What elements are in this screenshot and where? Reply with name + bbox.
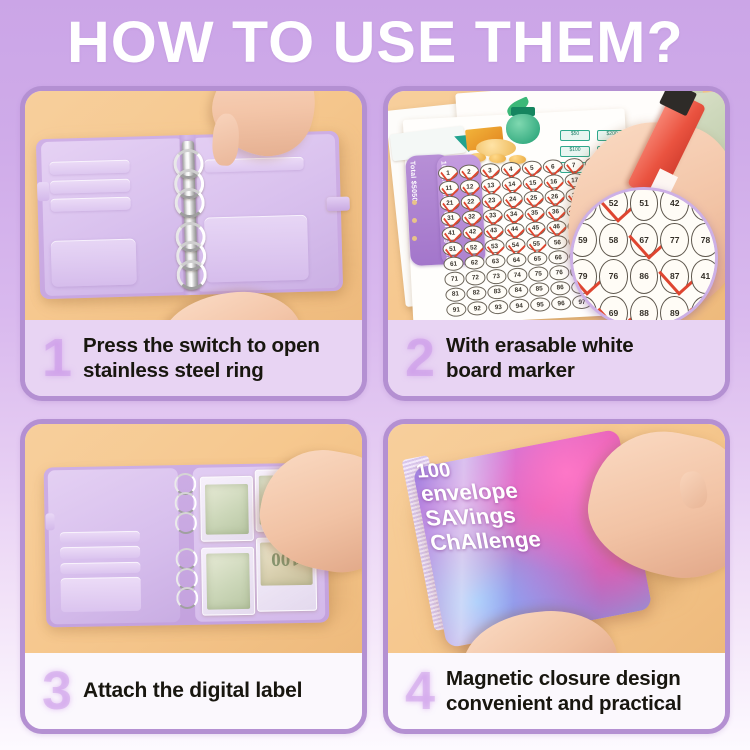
step-4-line-1: Magnetic closure design: [446, 667, 681, 690]
step-card-2[interactable]: 5 $50 $100 $150 $200 $250 Total $5050: [383, 86, 730, 401]
punch-holes: [412, 187, 422, 306]
tracker-number-cell[interactable]: 2: [458, 164, 479, 179]
card-slot: [51, 196, 131, 211]
binder-pocket: [60, 577, 141, 612]
inset-number-cell: 57: [691, 296, 718, 320]
inset-number-cell: 88: [630, 296, 659, 320]
card-slot: [60, 531, 141, 544]
step-4-caption: 4 Magnetic closure design convenient and…: [388, 653, 725, 729]
amount-label: $100: [561, 147, 589, 155]
step-2-line-2: board marker: [446, 359, 575, 382]
tracker-number-cell[interactable]: 45: [525, 221, 546, 236]
step-2-caption: 2 With erasable white board marker: [388, 320, 725, 396]
step-number-4: 4: [396, 664, 444, 718]
step-3-text: Attach the digital label: [83, 678, 302, 704]
step-4-line-2: convenient and practical: [446, 692, 682, 715]
tracker-number-cell[interactable]: 41: [441, 226, 462, 241]
inset-number-cell: 68: [570, 296, 597, 320]
tracker-number-cell[interactable]: 33: [482, 208, 503, 223]
amount-label: $50: [561, 131, 589, 139]
tracker-number-cell[interactable]: 83: [487, 284, 508, 299]
tracker-number-cell[interactable]: 11: [438, 180, 459, 195]
inset-number-cell: 52: [599, 187, 628, 220]
card-slot: [51, 178, 131, 193]
inset-number-cell: 51: [630, 187, 659, 220]
tracker-number-cell[interactable]: 72: [465, 270, 486, 285]
step-1-photo: [25, 91, 362, 320]
tracker-number-cell[interactable]: 51: [442, 241, 463, 256]
cash-envelope: [202, 547, 255, 616]
tracker-number-cell[interactable]: 93: [488, 299, 509, 314]
step-number-3: 3: [33, 664, 81, 718]
tracker-number-cell[interactable]: 94: [509, 298, 530, 313]
inset-number-cell: 76: [599, 259, 628, 294]
inset-number-cell: 89: [660, 296, 689, 320]
tracker-number-cell[interactable]: 65: [527, 251, 548, 266]
tracker-number-cell[interactable]: 92: [467, 300, 488, 315]
step-card-3[interactable]: 5 100: [20, 419, 367, 734]
step-number-1: 1: [33, 331, 81, 385]
binder-pocket: [51, 238, 138, 287]
tracker-number-cell[interactable]: 71: [444, 271, 465, 286]
tracker-number-cell[interactable]: 13: [480, 178, 501, 193]
tracker-number-cell[interactable]: 24: [502, 192, 523, 207]
step-3-photo: 5 100: [25, 424, 362, 653]
tracker-number-cell[interactable]: 75: [528, 266, 549, 281]
tracker-number-cell[interactable]: 63: [485, 254, 506, 269]
step-1-line-1: Press the switch to open: [83, 334, 320, 357]
tracker-number-cell[interactable]: 12: [459, 179, 480, 194]
tracker-number-cell[interactable]: 16: [543, 174, 564, 189]
binder-pocket: [205, 214, 309, 281]
tracker-number-cell[interactable]: 84: [508, 283, 529, 298]
tracker-number-cell[interactable]: 96: [551, 295, 572, 310]
tracker-number-cell[interactable]: 62: [464, 255, 485, 270]
tracker-number-cell[interactable]: 82: [466, 285, 487, 300]
tracker-number-cell[interactable]: 31: [440, 211, 461, 226]
tracker-number-cell[interactable]: 76: [549, 265, 570, 280]
tracker-number-cell[interactable]: 46: [546, 219, 567, 234]
tracker-number-cell[interactable]: 23: [481, 193, 502, 208]
card-slot: [50, 159, 130, 174]
open-binder: [36, 130, 344, 299]
tracker-number-cell[interactable]: 1: [437, 165, 458, 180]
tracker-number-cell[interactable]: 32: [461, 209, 482, 224]
step-number-2: 2: [396, 331, 444, 385]
step-2-line-1: With erasable white: [446, 334, 633, 357]
binder-left-page: [48, 469, 181, 625]
tracker-number-cell[interactable]: 4: [500, 161, 521, 176]
ring-mechanism: [180, 470, 194, 621]
page-header: HOW TO USE THEM?: [0, 0, 750, 86]
inset-number-cell: 59: [570, 223, 597, 258]
inset-number-cell: 69: [599, 296, 628, 320]
amount-box: $50: [560, 130, 590, 141]
thumb: [678, 470, 710, 511]
inset-number-cell: 58: [599, 223, 628, 258]
tracker-number-cell[interactable]: 95: [530, 297, 551, 312]
tracker-number-cell[interactable]: 85: [529, 281, 550, 296]
tracker-number-cell[interactable]: 61: [443, 256, 464, 271]
tracker-number-cell[interactable]: 55: [526, 236, 547, 251]
binder-tab: [38, 182, 50, 201]
zoom-inset-circle: 4352514250595867777879768687416869888957: [570, 187, 718, 320]
tracker-number-cell[interactable]: 5: [521, 160, 542, 175]
step-card-4[interactable]: 100 envelope SAVings ChAllenge 4 Magneti…: [383, 419, 730, 734]
tracker-number-cell[interactable]: 43: [483, 223, 504, 238]
tracker-number-cell[interactable]: 15: [522, 175, 543, 190]
step-4-text: Magnetic closure design convenient and p…: [446, 666, 682, 716]
step-3-line-1: Attach the digital label: [83, 679, 302, 702]
tracker-number-cell[interactable]: 21: [439, 195, 460, 210]
page-title: HOW TO USE THEM?: [67, 14, 684, 72]
binder-tab: [46, 514, 55, 531]
tracker-number-cell[interactable]: 81: [445, 286, 466, 301]
card-slot: [60, 562, 141, 575]
step-card-1[interactable]: 1 Press the switch to open stainless ste…: [20, 86, 367, 401]
step-2-photo: 5 $50 $100 $150 $200 $250 Total $5050: [388, 91, 725, 320]
money-bag-icon: [506, 114, 540, 144]
steps-grid: 1 Press the switch to open stainless ste…: [0, 86, 750, 750]
step-4-photo: 100 envelope SAVings ChAllenge: [388, 424, 725, 653]
inset-number-cell: 43: [570, 187, 597, 220]
tracker-number-cell[interactable]: 25: [523, 190, 544, 205]
elastic-strap: [327, 196, 350, 210]
tracker-number-cell[interactable]: 42: [462, 224, 483, 239]
step-1-text: Press the switch to open stainless steel…: [83, 333, 320, 383]
binder-left-page: [41, 138, 188, 296]
tracker-number-cell[interactable]: 73: [486, 269, 507, 284]
tracker-number-cell[interactable]: 91: [446, 302, 467, 317]
tracker-number-cell[interactable]: 53: [484, 238, 505, 253]
tracker-number-cell[interactable]: 3: [479, 162, 500, 177]
tracker-number-cell[interactable]: 34: [503, 207, 524, 222]
dollar-bill: [207, 554, 250, 610]
tracker-number-cell[interactable]: 36: [545, 204, 566, 219]
tracker-number-cell[interactable]: 22: [460, 194, 481, 209]
punch-hole: [412, 200, 417, 205]
inset-number-cell: 79: [570, 259, 597, 294]
tracker-number-cell[interactable]: 35: [524, 205, 545, 220]
tracker-number-cell[interactable]: 54: [505, 237, 526, 252]
step-2-text: With erasable white board marker: [446, 333, 633, 383]
tracker-number-cell[interactable]: 86: [550, 280, 571, 295]
tracker-number-cell[interactable]: 14: [501, 176, 522, 191]
dollar-bill: [206, 484, 249, 535]
tracker-number-cell[interactable]: 64: [506, 252, 527, 267]
step-1-caption: 1 Press the switch to open stainless ste…: [25, 320, 362, 396]
tracker-number-cell[interactable]: 6: [542, 159, 563, 174]
tracker-number-cell[interactable]: 44: [504, 222, 525, 237]
tracker-number-cell[interactable]: 52: [463, 240, 484, 255]
step-1-line-2: stainless steel ring: [83, 359, 264, 382]
tracker-number-cell[interactable]: 66: [548, 250, 569, 265]
card-slot: [60, 546, 141, 559]
punch-hole: [412, 236, 417, 241]
cash-envelope: [200, 476, 253, 542]
step-3-caption: 3 Attach the digital label: [25, 653, 362, 729]
tracker-number-cell[interactable]: 74: [507, 267, 528, 282]
punch-hole: [412, 218, 417, 223]
tracker-number-cell[interactable]: 26: [544, 189, 565, 204]
tracker-number-cell[interactable]: 56: [547, 234, 568, 249]
